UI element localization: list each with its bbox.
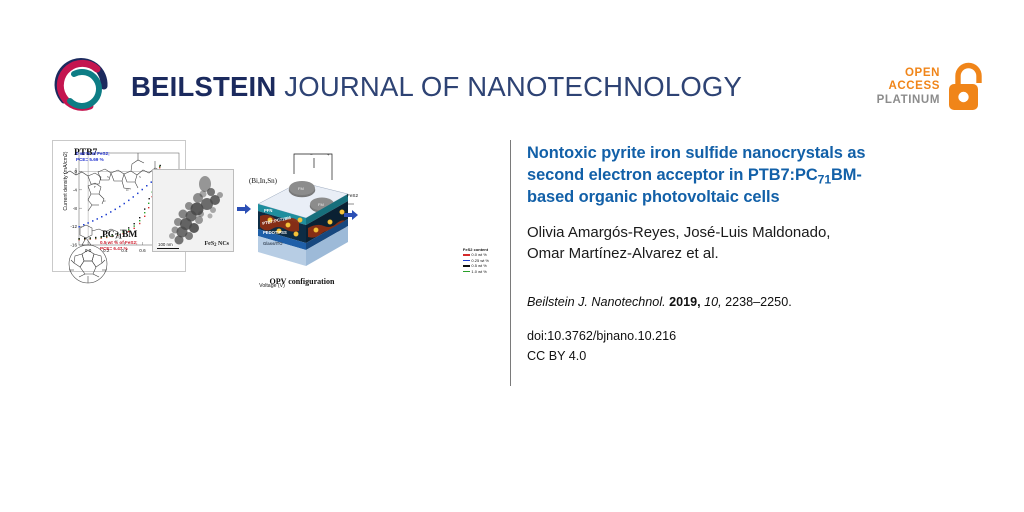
opv-layer-label-glass-ito: Glass/ITO bbox=[263, 241, 282, 246]
opv-layer-label-pfn: PFN bbox=[264, 208, 272, 213]
article-title-line3: based organic photovoltaic cells bbox=[527, 188, 780, 206]
svg-text:+: + bbox=[327, 152, 330, 157]
legend-swatch-icon bbox=[463, 271, 470, 273]
tem-micrograph-image bbox=[153, 170, 234, 252]
tem-scale-bar bbox=[157, 248, 179, 250]
open-access-badge: OPEN ACCESS PLATINUM bbox=[877, 58, 986, 116]
article-title-line2-a: second electron acceptor in PTB7:PC bbox=[527, 166, 818, 184]
pc71bm-label-tail: BM bbox=[122, 230, 137, 240]
graphical-abstract-page: BEILSTEIN JOURNAL OF NANOTECHNOLOGY OPEN… bbox=[0, 0, 1024, 512]
chart-legend-label: 1.0 wt % bbox=[471, 269, 486, 274]
svg-text:F: F bbox=[94, 185, 96, 189]
svg-text:S: S bbox=[139, 175, 141, 179]
opv-layer-label-pedot: PEDOT:PSS bbox=[263, 230, 287, 235]
article-doi-license: doi:10.3762/bjnano.10.216 CC BY 4.0 bbox=[527, 326, 979, 367]
svg-text:O: O bbox=[103, 199, 106, 203]
article-authors: Olivia Amargós-Reyes, José-Luis Maldonad… bbox=[527, 222, 979, 265]
legend-swatch-icon bbox=[463, 260, 470, 262]
chemical-structures-drawing: F O O S S OMe O bbox=[58, 142, 166, 284]
tem-caption: FeS2 NCs bbox=[204, 241, 229, 248]
chart-legend-title: FeS2 content bbox=[463, 247, 489, 252]
legend-swatch-icon bbox=[463, 254, 470, 256]
wordmark-journal-of-nanotechnology: JOURNAL OF NANOTECHNOLOGY bbox=[276, 71, 742, 102]
chart-annotation-05wt-line1: 0.5 wt % of FeS2; bbox=[100, 240, 138, 246]
article-doi[interactable]: doi:10.3762/bjnano.10.216 bbox=[527, 326, 979, 346]
citation-pages: 2238–2250. bbox=[725, 295, 792, 309]
article-title-line2-b: BM- bbox=[831, 166, 862, 184]
open-access-text: OPEN ACCESS PLATINUM bbox=[877, 67, 940, 108]
tem-micrograph-panel: 100 nm FeS2 NCs bbox=[152, 169, 234, 252]
article-authors-line2: Omar Martínez-Alvarez et al. bbox=[527, 245, 719, 262]
article-authors-line1: Olivia Amargós-Reyes, José-Luis Maldonad… bbox=[527, 224, 830, 241]
article-citation: Beilstein J. Nanotechnol. 2019, 10, 2238… bbox=[527, 294, 979, 312]
opv-top-contact-label: (Bi,In,Sn) bbox=[249, 177, 277, 185]
svg-text:FM: FM bbox=[318, 202, 324, 207]
citation-volume: 10, bbox=[704, 295, 722, 309]
chart-annotation-0wt: 0 wt % of FeS2; PCE= 5.69 % bbox=[76, 151, 110, 162]
wordmark-beilstein: BEILSTEIN bbox=[131, 71, 276, 102]
article-title-line2-sub: 71 bbox=[818, 172, 831, 186]
article-metadata: Nontoxic pyrite iron sulfide nanocrystal… bbox=[527, 143, 979, 367]
beilstein-ring-logo-icon bbox=[52, 56, 114, 118]
chemical-structures-panel: F O O S S OMe O bbox=[58, 142, 166, 284]
chart-annotation-0wt-line2: PCE= 5.69 % bbox=[76, 157, 110, 163]
chart-y-axis-label: Current density (mA/cm2) bbox=[63, 146, 69, 216]
open-access-line-open: OPEN bbox=[877, 67, 940, 81]
chart-annotation-0wt-line1: 0 wt % of FeS2; bbox=[76, 151, 110, 157]
chart-legend: FeS2 content 0.0 wt % 0.25 wt % 0.5 wt %… bbox=[463, 247, 489, 274]
svg-text:FM: FM bbox=[298, 186, 304, 191]
tem-caption-tail: NCs bbox=[216, 241, 229, 247]
tem-scale-label: 100 nm bbox=[157, 242, 174, 247]
opv-device-panel: − + FM FM bbox=[248, 146, 356, 288]
chart-annotation-05wt-line2: PCE= 6.47 % bbox=[100, 246, 138, 252]
open-access-line-access: ACCESS bbox=[877, 80, 940, 94]
citation-journal: Beilstein J. Nanotechnol. bbox=[527, 295, 666, 309]
svg-text:−: − bbox=[310, 152, 313, 157]
flow-arrow-icon bbox=[344, 208, 358, 226]
open-access-line-platinum: PLATINUM bbox=[877, 94, 940, 108]
article-title-line1: Nontoxic pyrite iron sulfide nanocrystal… bbox=[527, 144, 865, 162]
citation-year: 2019, bbox=[669, 295, 701, 309]
chart-x-axis-label: Voltage (V) bbox=[52, 283, 492, 289]
legend-swatch-icon bbox=[463, 265, 470, 267]
opv-nanoparticle-label: FeS2 bbox=[347, 193, 358, 198]
open-lock-icon bbox=[946, 61, 986, 113]
chart-legend-item: 1.0 wt % bbox=[463, 269, 489, 274]
svg-text:S: S bbox=[107, 175, 109, 179]
article-title: Nontoxic pyrite iron sulfide nanocrystal… bbox=[527, 143, 979, 209]
column-divider bbox=[510, 140, 511, 386]
chart-annotation-05wt: 0.5 wt % of FeS2; PCE= 6.47 % bbox=[100, 240, 138, 251]
article-license[interactable]: CC BY 4.0 bbox=[527, 346, 979, 366]
journal-masthead: BEILSTEIN JOURNAL OF NANOTECHNOLOGY bbox=[52, 55, 742, 119]
pc71bm-label-main: PC bbox=[102, 230, 115, 240]
graphical-abstract-figure: F O O S S OMe O bbox=[52, 140, 492, 290]
tem-caption-main: FeS bbox=[204, 241, 214, 247]
journal-wordmark: BEILSTEIN JOURNAL OF NANOTECHNOLOGY bbox=[131, 73, 742, 101]
